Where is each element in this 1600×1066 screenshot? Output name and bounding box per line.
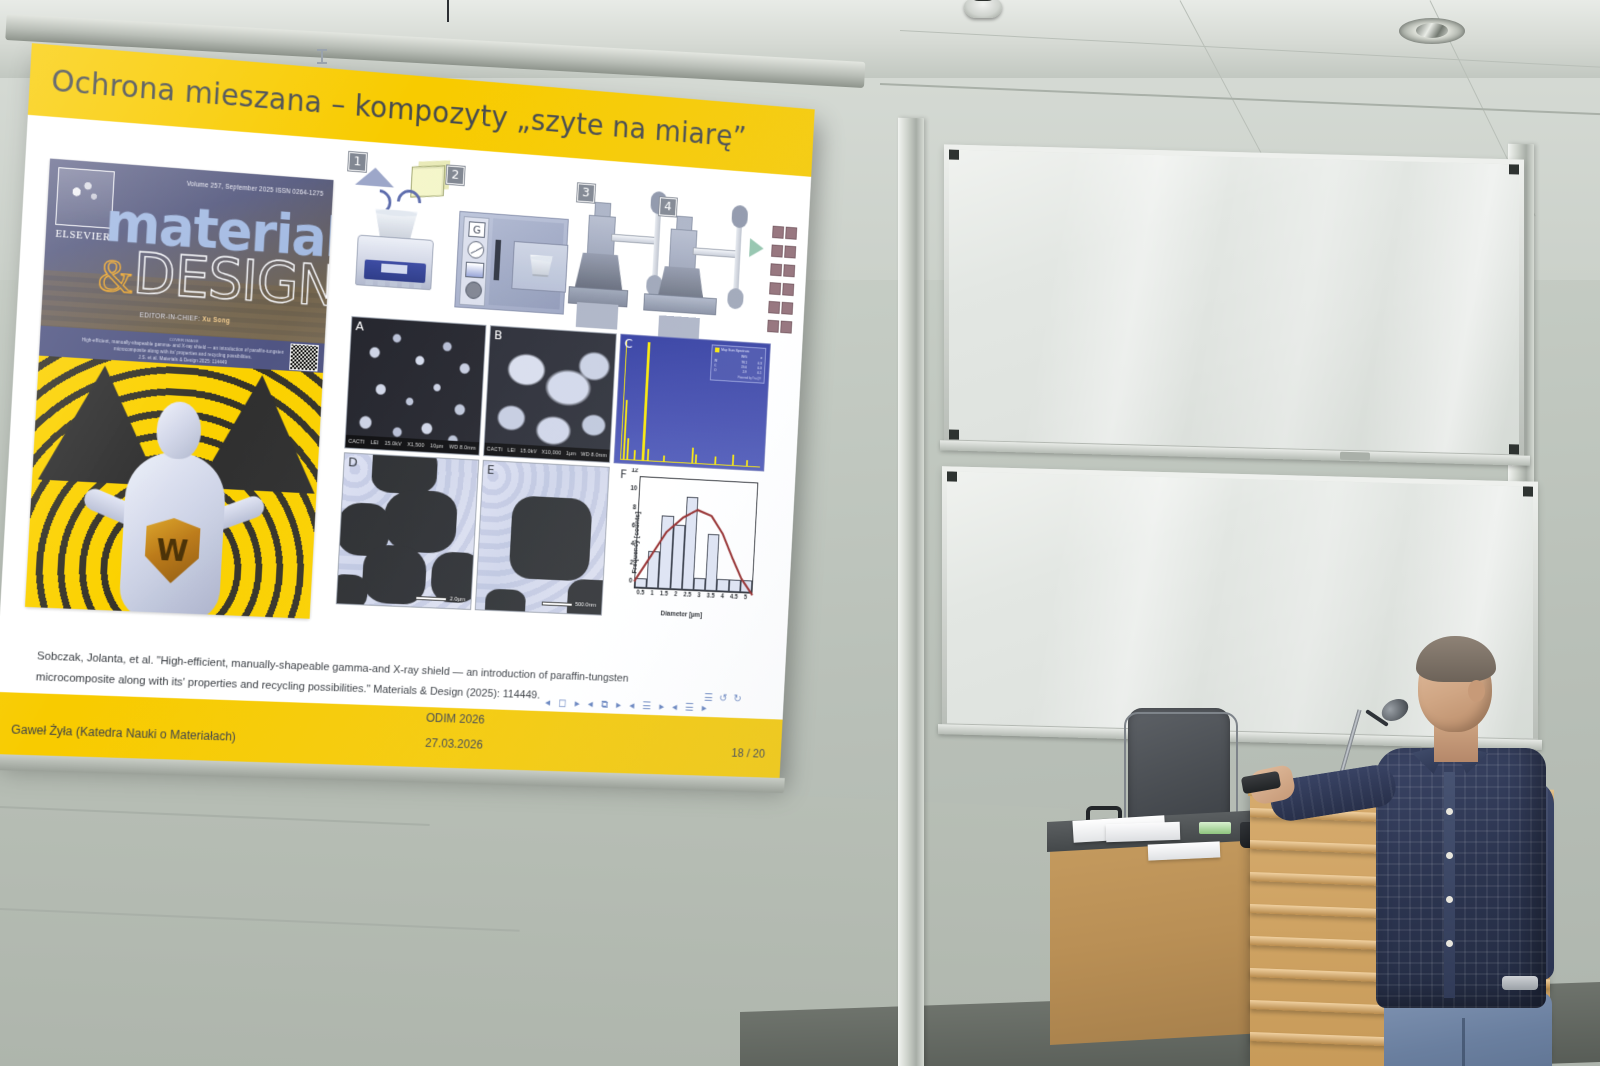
whiteboard-corner bbox=[1523, 486, 1533, 496]
text-cursor-icon-top bbox=[317, 49, 327, 51]
shirt-button bbox=[1446, 896, 1453, 903]
press-arm bbox=[611, 234, 660, 245]
oven-handle bbox=[494, 240, 502, 281]
eds-sigma: 0.1 bbox=[746, 370, 761, 376]
shirt-button bbox=[1446, 940, 1453, 947]
press-foot bbox=[576, 302, 619, 330]
cover-title-design: &DESIGN bbox=[97, 246, 333, 314]
sem-cap-field: 1µm bbox=[566, 451, 577, 457]
composite-tiles-stack bbox=[766, 225, 798, 340]
panel-label-B: B bbox=[494, 328, 503, 343]
press-knob-top bbox=[731, 205, 748, 229]
sem-cap-field: LEI bbox=[370, 440, 379, 446]
press-knob-bottom bbox=[727, 288, 744, 310]
scalebar-label: 2.0µm bbox=[450, 597, 466, 603]
wristwatch bbox=[1502, 976, 1538, 990]
micrograph-panel-B: B CACTI LEI 15.0kV X10,000 1µm WD 8.0mm bbox=[483, 325, 617, 463]
composite-tile bbox=[772, 226, 784, 239]
output-arrow-icon bbox=[749, 238, 764, 258]
histogram-y-tick: 6 bbox=[632, 522, 636, 529]
shirt-button bbox=[1446, 808, 1453, 815]
micrograph-panel-D: D 2.0µm bbox=[336, 452, 479, 610]
presenter-shirt bbox=[1376, 748, 1546, 1008]
eds-peak bbox=[647, 449, 649, 461]
histogram-x-axis-label: Diameter [µm] bbox=[605, 608, 756, 621]
tem-particle bbox=[383, 489, 458, 555]
panel-label-A: A bbox=[355, 319, 364, 334]
histogram-y-tick: 2 bbox=[630, 559, 634, 566]
sem-cap-field: CACTI bbox=[348, 438, 365, 445]
histogram-y-tick: 0 bbox=[629, 577, 633, 584]
composite-tile bbox=[781, 302, 793, 315]
oven-label-g: G bbox=[468, 221, 485, 238]
presentation-slide: Ochrona mieszana – kompozyty „szyte na m… bbox=[0, 43, 815, 778]
eds-peak bbox=[663, 455, 665, 461]
sem-cap-field: CACTI bbox=[487, 446, 503, 453]
cover-ampersand: & bbox=[97, 255, 133, 299]
sem-cap-field: WD 8.0mm bbox=[581, 451, 607, 458]
beamer-nav-symbols-secondary[interactable]: ☰ ↺ ↻ bbox=[704, 691, 744, 705]
shirt-button bbox=[1446, 852, 1453, 859]
panel-label-E: E bbox=[487, 463, 495, 478]
sem-cap-field: 15.0kV bbox=[520, 448, 537, 455]
composite-tile bbox=[767, 320, 779, 333]
scalebar-label: 500.0nm bbox=[575, 602, 596, 609]
oven-window bbox=[511, 241, 568, 293]
presenter bbox=[1346, 640, 1600, 1066]
footer-page-number: 18 / 20 bbox=[570, 741, 781, 761]
crucible-in-oven-icon bbox=[528, 255, 555, 278]
elsevier-wordmark: ELSEVIER bbox=[54, 228, 111, 244]
step-number-2: 2 bbox=[446, 165, 464, 185]
tem-hex-particle bbox=[509, 495, 593, 581]
slide-body: ELSEVIER Volume 257, September 2025 ISSN… bbox=[0, 115, 811, 720]
footer-spacer-right bbox=[571, 723, 782, 730]
sem-cap-field: LEI bbox=[507, 447, 515, 453]
whiteboard-corner bbox=[949, 150, 959, 160]
projection-screen[interactable]: Ochrona mieszana – kompozyty „szyte na m… bbox=[0, 43, 815, 778]
sem-image-b bbox=[484, 326, 616, 462]
presenter-shirt-placket bbox=[1444, 772, 1455, 998]
eds-peak bbox=[691, 448, 694, 463]
histogram-y-tick: 8 bbox=[633, 504, 637, 511]
eds-peak bbox=[746, 460, 748, 466]
presenter-hair bbox=[1416, 636, 1496, 682]
panel-label-F: F bbox=[620, 467, 627, 482]
sem-cap-field: X1,500 bbox=[407, 442, 425, 449]
oven-dial-icon bbox=[467, 241, 484, 260]
oven-icon: G bbox=[454, 211, 569, 315]
composite-tile bbox=[771, 245, 783, 258]
cover-design-word: DESIGN bbox=[132, 248, 334, 313]
tray-handle[interactable] bbox=[1340, 452, 1370, 461]
oven-display bbox=[465, 262, 484, 279]
upper-whiteboard[interactable] bbox=[944, 144, 1524, 459]
sem-cap-field: 10µm bbox=[430, 443, 444, 450]
sem-cap-field: 15.0kV bbox=[384, 440, 401, 447]
eds-peak bbox=[714, 456, 716, 464]
oven-door bbox=[488, 218, 564, 309]
scalebar-line bbox=[541, 602, 572, 607]
powder-pile-icon bbox=[355, 166, 395, 187]
whiteboard-corner bbox=[1509, 164, 1519, 174]
press-icon-3 bbox=[567, 193, 651, 332]
eds-element: O bbox=[714, 368, 724, 373]
histogram-y-tick: 4 bbox=[631, 540, 635, 547]
panel-label-D: D bbox=[348, 455, 358, 470]
ceiling-downlight bbox=[1399, 18, 1465, 44]
marker-box[interactable] bbox=[1199, 822, 1231, 834]
ceiling-cable bbox=[447, 0, 449, 22]
histogram-y-tick: 12 bbox=[631, 467, 638, 474]
panel-label-C: C bbox=[624, 337, 633, 352]
oven-control-panel: G bbox=[459, 216, 489, 306]
oven-knob-icon bbox=[465, 281, 482, 299]
micrograph-panel-F: F Frequency [counts] Diameter [µm] 02468… bbox=[605, 467, 764, 622]
press-arm bbox=[693, 247, 741, 258]
tem-image-d bbox=[337, 453, 478, 609]
balance-scale-icon bbox=[355, 235, 434, 291]
eds-peak bbox=[626, 438, 629, 459]
footer-spacer bbox=[0, 703, 337, 715]
micrograph-panel-C: Map Sum Spectrum Wt% σ W bbox=[614, 334, 771, 472]
composite-tile bbox=[780, 321, 792, 334]
eds-peak bbox=[633, 450, 635, 460]
whiteboard-corner bbox=[949, 430, 959, 440]
composite-tile bbox=[783, 264, 795, 277]
paper-stack bbox=[1148, 841, 1221, 860]
tem-particle bbox=[484, 588, 526, 615]
micrograph-grid: A CACTI LEI 15.0kV X1,500 10µm WD 8.0mm bbox=[315, 311, 792, 685]
cover-artwork: W bbox=[25, 356, 323, 619]
process-diagram: 1 2 G bbox=[335, 152, 800, 340]
composite-tile bbox=[769, 282, 781, 295]
eds-peak bbox=[732, 455, 734, 465]
qr-code-icon bbox=[289, 343, 319, 371]
footer-event: ODIM 2026 bbox=[337, 708, 572, 730]
histogram-y-tick: 10 bbox=[630, 485, 637, 492]
composite-tile bbox=[770, 263, 782, 276]
eds-peak bbox=[695, 454, 697, 463]
particle-size-histogram: F Frequency [counts] Diameter [µm] 02468… bbox=[605, 467, 764, 622]
histogram-fit-curve bbox=[633, 476, 758, 609]
journal-cover-image: ELSEVIER Volume 257, September 2025 ISSN… bbox=[25, 159, 334, 619]
eds-legend-table: Wt% σ W 78.1 0.3 C bbox=[714, 354, 762, 376]
figure-head bbox=[155, 400, 202, 460]
composite-tile bbox=[768, 301, 780, 314]
scalebar-line bbox=[416, 596, 448, 601]
sem-image-a bbox=[345, 317, 485, 455]
text-cursor-icon-bottom bbox=[317, 62, 327, 64]
eds-peak-main bbox=[642, 342, 651, 460]
composite-tile bbox=[785, 227, 797, 240]
eds-legend-swatch bbox=[715, 348, 720, 353]
micrograph-panel-A: A CACTI LEI 15.0kV X1,500 10µm WD 8.0mm bbox=[344, 316, 486, 456]
cover-mannequin-figure: W bbox=[112, 398, 237, 618]
whiteboard-corner bbox=[1509, 444, 1519, 454]
composite-tile bbox=[782, 283, 794, 296]
shield-letter: W bbox=[155, 533, 189, 569]
composite-tile bbox=[784, 245, 796, 258]
eds-legend: Map Sum Spectrum Wt% σ W bbox=[710, 344, 766, 384]
mold-table bbox=[643, 293, 717, 315]
tem-image-e bbox=[476, 461, 609, 615]
whiteboard-glare bbox=[949, 150, 1519, 455]
smoke-detector-icon bbox=[964, 0, 1002, 18]
footer-date: 27.03.2026 bbox=[336, 733, 571, 754]
tem-particle bbox=[336, 574, 368, 610]
tem-particle bbox=[371, 452, 439, 495]
paper-stack bbox=[1106, 822, 1181, 843]
whiteboard-rail-left bbox=[898, 118, 924, 1066]
micrograph-panel-E: E 500.0nm bbox=[475, 460, 610, 616]
presenter-ear bbox=[1468, 680, 1485, 702]
tem-particle bbox=[566, 579, 610, 616]
lecture-hall-scene: Ochrona mieszana – kompozyty „szyte na m… bbox=[0, 0, 1600, 1066]
eds-x-axis bbox=[620, 459, 760, 468]
side-desk-body bbox=[1050, 832, 1276, 1045]
press-icon-4 bbox=[649, 206, 732, 344]
sem-cap-field: X10,000 bbox=[541, 449, 561, 456]
sem-cap-field: WD 8.0mm bbox=[449, 444, 476, 451]
footer-author: Gaweł Żyła (Katedra Nauki o Materiałach) bbox=[0, 722, 336, 747]
eds-spectrum-plot: Map Sum Spectrum Wt% σ W bbox=[614, 335, 769, 471]
whiteboard-corner bbox=[947, 471, 957, 481]
